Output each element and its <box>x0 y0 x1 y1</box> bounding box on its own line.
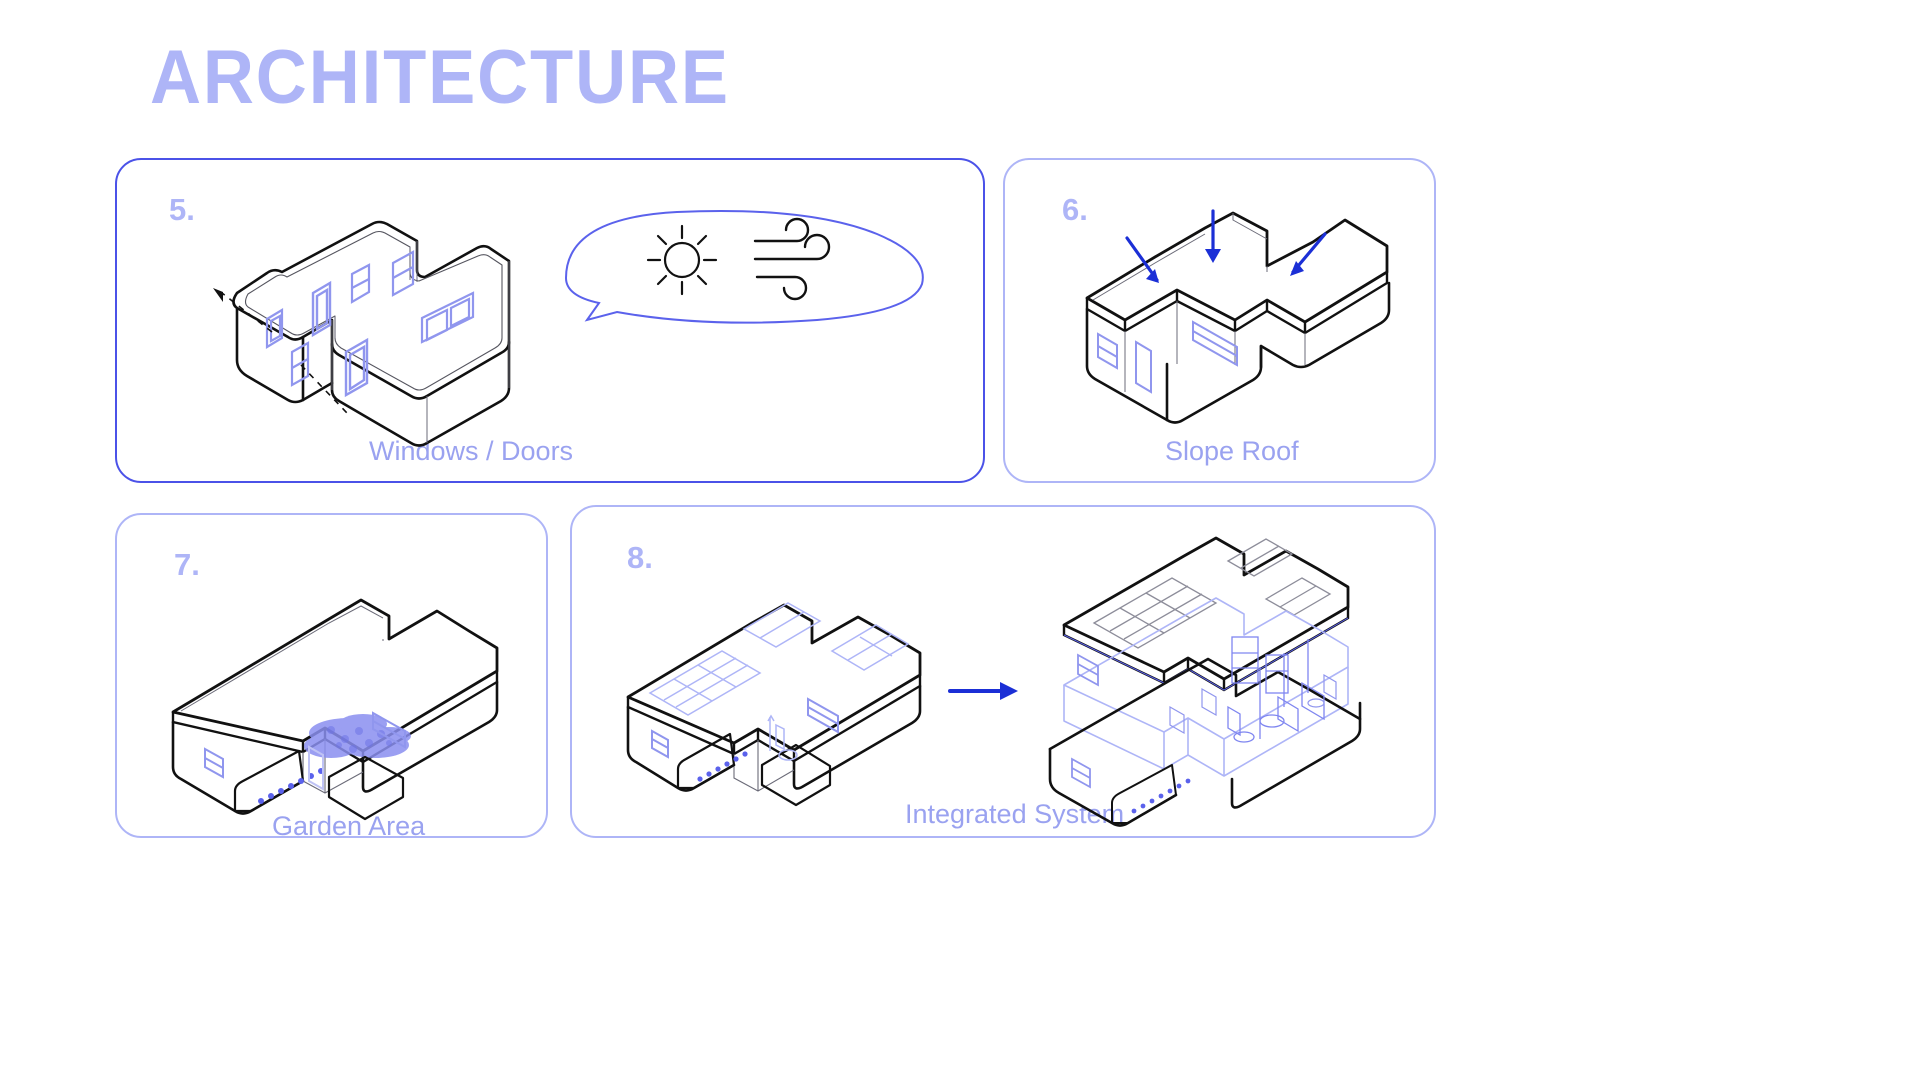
exploded-terrace <box>1112 765 1176 823</box>
window-upper-right <box>352 265 369 302</box>
panel-integrated-system[interactable]: 8. Integrated System <box>570 505 1436 838</box>
panel-6-illustration <box>1005 160 1438 485</box>
solar-house-terrace <box>678 734 830 805</box>
sun-icon <box>648 226 716 294</box>
wind-icon <box>755 219 829 299</box>
panel-7-illustration <box>117 515 550 840</box>
solar-house <box>628 603 920 805</box>
panel-5-illustration <box>117 160 987 485</box>
exploded-window-left <box>1078 655 1098 685</box>
panel-8-illustration <box>572 507 1438 840</box>
exploded-window-base <box>1072 759 1090 787</box>
solar-house-window-left <box>652 731 668 757</box>
garden-terrace-right <box>329 757 403 819</box>
door-lower-center <box>346 340 367 395</box>
door-center <box>1136 342 1151 392</box>
window-left-wall <box>1098 334 1117 368</box>
exploded-path-dots <box>1132 779 1191 814</box>
house-wall-edges <box>237 308 509 446</box>
path-dots <box>258 768 324 804</box>
window-left-facade <box>205 749 223 777</box>
panel-slope-roof[interactable]: 6. Slope Roof <box>1003 158 1436 483</box>
interior-fixtures-detail <box>1170 675 1336 733</box>
page-title: ARCHITECTURE <box>150 40 730 116</box>
panel-garden-area[interactable]: 7. Garden Area <box>115 513 548 838</box>
solar-roof-slab <box>628 605 920 750</box>
window-lower-left <box>292 343 308 385</box>
speech-bubble <box>566 211 923 323</box>
transition-arrowhead <box>1000 682 1018 700</box>
panel-windows-doors[interactable]: 5. Windows / Doors <box>115 158 985 483</box>
exploded-assembly <box>1050 538 1360 826</box>
slope-roof <box>1087 213 1387 322</box>
callout-arrowhead <box>213 288 223 302</box>
window-wide-right <box>422 293 473 342</box>
house-shell-open <box>234 222 510 399</box>
solar-house-path-dots <box>697 751 747 781</box>
